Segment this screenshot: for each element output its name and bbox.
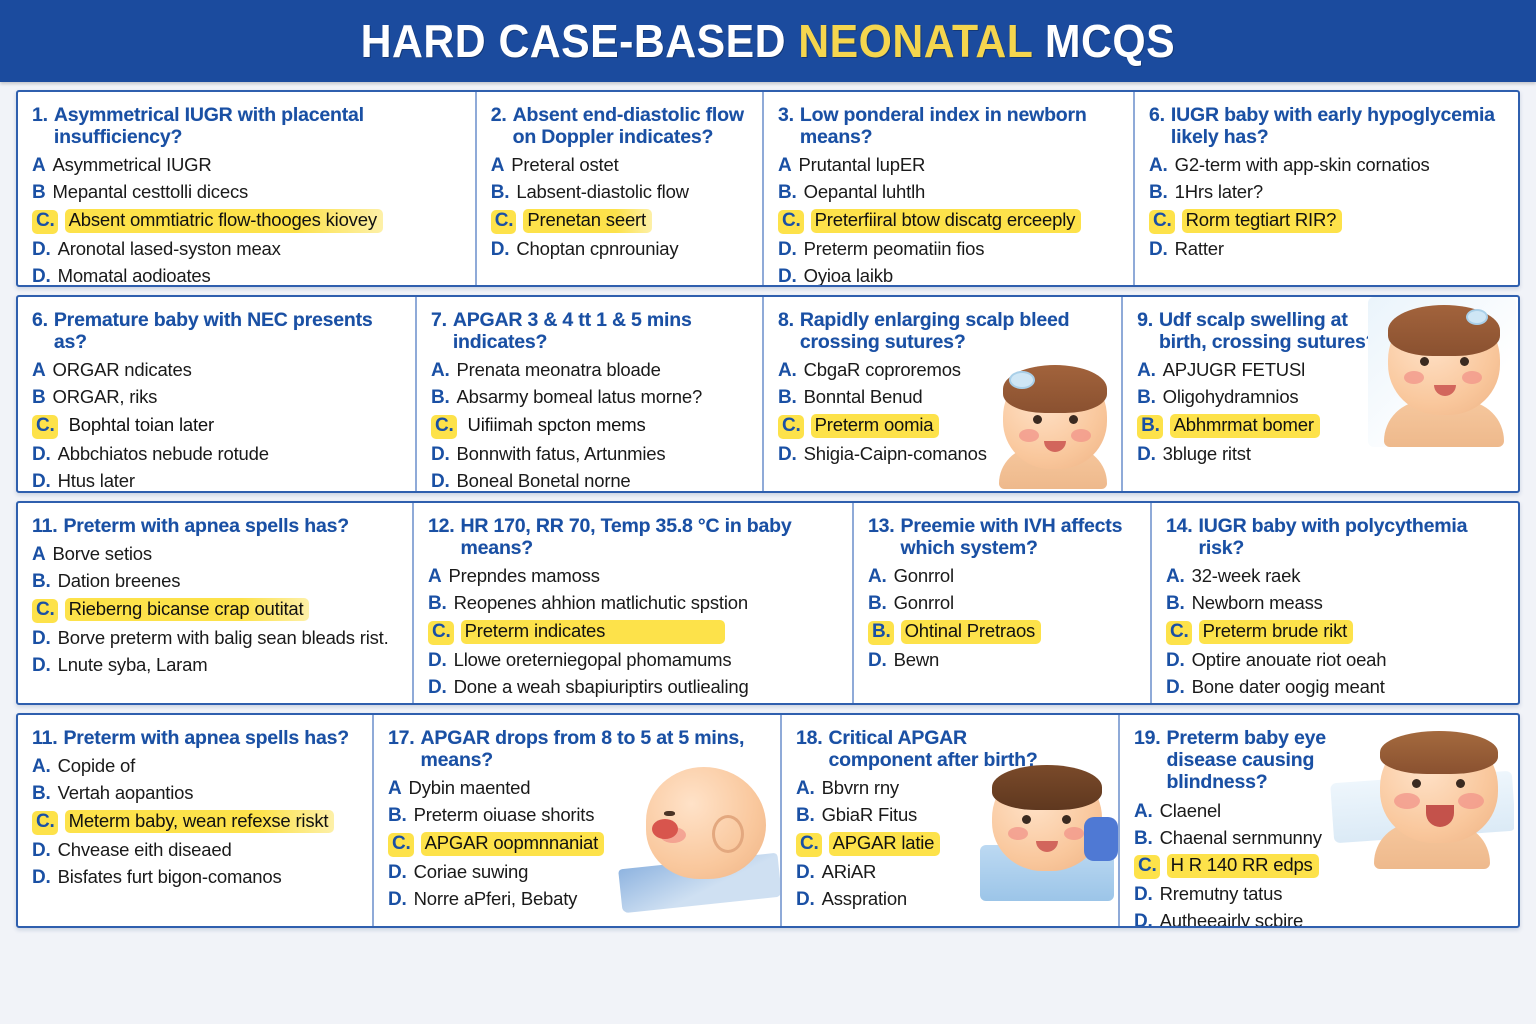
option-text: Optire anouate riot oeah (1192, 650, 1387, 670)
option-letter: A (491, 156, 505, 177)
question-text: Preterm with apnea spells has? (63, 727, 358, 749)
option-item[interactable]: D.Momatal aodioates (32, 266, 461, 285)
title-part-2: MCQs (1033, 15, 1176, 67)
option-text: Preterm indicates (461, 620, 726, 643)
option-item-highlighted[interactable]: C.Preterm oomia (778, 414, 1107, 439)
option-item[interactable]: D.3bluge ritst (1137, 444, 1504, 466)
option-letter: C. (32, 811, 58, 835)
question-heading: 1. Asymmetrical IUGR with placental insu… (32, 104, 461, 148)
option-item[interactable]: APreteral ostet (491, 155, 748, 177)
option-letter: A (388, 779, 402, 800)
title-part-1: Hard Case-Based (361, 15, 799, 67)
option-letter: B. (778, 183, 797, 204)
option-letter: D. (778, 267, 797, 285)
option-item[interactable]: ABorve setios (32, 544, 398, 566)
option-item[interactable]: D.Lnute syba, Laram (32, 655, 398, 677)
option-item[interactable]: D.Bone dater oogig meant (1166, 677, 1504, 699)
option-text: GbiaR Fitus (822, 805, 917, 825)
option-letter: D. (428, 651, 447, 672)
question-text: Preterm baby eye disease causing blindne… (1167, 727, 1384, 794)
option-text: Bonnwith fatus, Artunmies (457, 444, 666, 464)
option-letter: B. (32, 572, 51, 593)
option-text: Bisfates furt bigon-comanos (58, 867, 282, 887)
option-text: Bone dater oogig meant (1192, 677, 1385, 697)
option-text: Preterm brude rikt (1199, 620, 1353, 643)
option-item[interactable]: D.Abbchiatos nebude rotude (32, 444, 401, 466)
question-card[interactable]: 19. Preterm baby eye disease causing bli… (1120, 715, 1514, 926)
options-list: ADybin maented B.Preterm oiuase shorits … (388, 778, 766, 910)
option-letter: C. (428, 621, 454, 645)
option-letter: B. (1137, 415, 1163, 439)
option-letter: A (32, 361, 46, 382)
option-letter: D. (778, 240, 797, 261)
option-item[interactable]: A.Prenata meonatra bloade (431, 360, 748, 382)
option-item[interactable]: B.Reopenes ahhion matlichutic spstion (428, 593, 838, 615)
option-letter: D. (1134, 885, 1153, 906)
option-item[interactable]: D.Borve preterm with balig sean bleads r… (32, 628, 398, 650)
question-row: 11. Preterm with apnea spells has? A.Cop… (16, 713, 1520, 928)
option-text: ARiAR (822, 862, 877, 882)
option-text: Bonntal Benud (804, 387, 923, 407)
option-letter: C. (32, 210, 58, 234)
option-letter: C. (388, 833, 414, 857)
option-text: Norre aPferi, Bebaty (414, 889, 578, 909)
option-letter: B. (1149, 183, 1168, 204)
question-number: 14. (1166, 515, 1193, 537)
option-letter: A (32, 156, 46, 177)
options-list: A.Gonrrol B.Gonrrol B.Ohtinal Pretraos D… (868, 566, 1136, 672)
option-item[interactable]: D.Aronotal lased-syston meax (32, 239, 461, 261)
question-text: Asymmetrical IUGR with placental insuffi… (54, 104, 461, 148)
option-item[interactable]: B.Preterm oiuase shorits (388, 805, 766, 827)
question-text: APGAR 3 & 4 tt 1 & 5 mins indicates? (453, 309, 748, 353)
option-letter: D. (1166, 651, 1185, 672)
option-item-highlighted[interactable]: C.Absent ommtiatric flow-thooges kiovey (32, 209, 461, 234)
question-text: Low ponderal index in newborn means? (800, 104, 1119, 148)
option-item[interactable]: D.Asspration (796, 889, 1104, 911)
option-item[interactable]: D.Autheeairly scbire (1134, 911, 1500, 926)
option-letter: D. (388, 863, 407, 884)
option-item[interactable]: AAsymmetrical IUGR (32, 155, 461, 177)
option-text: Preteral ostet (511, 155, 618, 175)
option-item[interactable]: D.ARiAR (796, 862, 1104, 884)
question-row: 1. Asymmetrical IUGR with placental insu… (16, 90, 1520, 287)
question-heading: 9. Udf scalp swelling at birth, crossing… (1137, 309, 1387, 353)
option-text: Absent ommtiatric flow-thooges kiovey (65, 209, 383, 232)
option-item[interactable]: A.Claenel (1134, 801, 1500, 823)
option-item[interactable]: B.Chaenal sernmunny (1134, 828, 1500, 850)
question-heading: 7. APGAR 3 & 4 tt 1 & 5 mins indicates? (431, 309, 748, 353)
option-item-highlighted[interactable]: C.Preterm indicates (428, 620, 838, 645)
option-item-highlighted[interactable]: C.Bophtal toian later (32, 414, 401, 439)
question-heading: 3. Low ponderal index in newborn means? (778, 104, 1119, 148)
question-heading: 13. Preemie with IVH affects which syste… (868, 515, 1136, 559)
option-text: Borve setios (53, 544, 152, 564)
question-number: 11. (32, 515, 57, 537)
option-text: Dation breenes (58, 571, 181, 591)
question-number: 11. (32, 727, 57, 749)
question-heading: 11. Preterm with apnea spells has? (32, 515, 398, 537)
option-item[interactable]: D.Preterm peomatiin fios (778, 239, 1119, 261)
option-text: Dybin maented (409, 778, 531, 798)
option-item[interactable]: B.Oligohydramnios (1137, 387, 1504, 409)
option-text: Gonrrol (894, 593, 954, 613)
option-text: Rieberng bicanse crap outitat (65, 598, 310, 621)
option-letter: D. (491, 240, 510, 261)
option-text: Prepndes mamoss (449, 566, 600, 586)
option-item[interactable]: A.CbgaR coproremos (778, 360, 1107, 382)
option-text: Abhmrmat bomer (1170, 414, 1320, 437)
option-text: APGAR latie (829, 832, 941, 855)
question-heading: 6. Premature baby with NEC presents as? (32, 309, 401, 353)
option-letter: D. (388, 890, 407, 911)
option-text: 1Hrs later? (1175, 182, 1263, 202)
option-item[interactable]: D.Done a weah sbapiuriptirs outliealing (428, 677, 838, 699)
option-item[interactable]: D.Llowe oreterniegopal phomamums (428, 650, 838, 672)
option-text: Rorm tegtiart RIR? (1182, 209, 1343, 232)
option-text: Newborn meass (1192, 593, 1323, 613)
option-item[interactable]: APrepndes mamoss (428, 566, 838, 588)
option-text: Asspration (822, 889, 907, 909)
options-list: APrutantal lupER B.Oepantal luhtlh C.Pre… (778, 155, 1119, 285)
question-number: 17. (388, 727, 415, 749)
option-letter: A. (796, 779, 815, 800)
question-card[interactable]: 9. Udf scalp swelling at birth, crossing… (1123, 297, 1518, 491)
option-letter: D. (778, 445, 797, 466)
question-heading: 6. IUGR baby with early hypoglycemia lik… (1149, 104, 1504, 148)
question-number: 9. (1137, 309, 1153, 331)
option-letter: C. (778, 415, 804, 439)
option-text: Preterfiiral btow discatg erceeply (811, 209, 1082, 232)
option-item[interactable]: APrutantal lupER (778, 155, 1119, 177)
option-item[interactable]: B.Absarmy bomeal latus morne? (431, 387, 748, 409)
option-text: APJUGR FETUSl (1163, 360, 1305, 380)
question-number: 2. (491, 104, 507, 126)
option-text: ORGAR, riks (53, 387, 158, 407)
option-item[interactable]: A.Bbvrn rny (796, 778, 1104, 800)
option-text: Borve preterm with balig sean bleads ris… (58, 628, 389, 648)
option-letter: C. (1134, 855, 1160, 879)
question-card[interactable]: 17. APGAR drops from 8 to 5 at 5 mins, m… (374, 715, 782, 926)
option-item[interactable]: A.APJUGR FETUSl (1137, 360, 1504, 382)
option-item-highlighted[interactable]: C.Rieberng bicanse crap outitat (32, 598, 398, 623)
option-letter: D. (868, 651, 887, 672)
option-letter: B. (1166, 594, 1185, 615)
option-text: 32-week raek (1192, 566, 1301, 586)
options-list: A.Claenel B.Chaenal sernmunny C.H R 140 … (1134, 801, 1500, 926)
option-letter: D. (32, 472, 51, 491)
option-letter: D. (431, 445, 450, 466)
question-card[interactable]: 8. Rapidly enlarging scalp bleed crossin… (764, 297, 1123, 491)
option-letter: C. (1149, 210, 1175, 234)
option-item[interactable]: D.Choptan cpnrouniay (491, 239, 748, 261)
option-text: Lnute syba, Laram (58, 655, 208, 675)
option-text: Oepantal luhtlh (804, 182, 925, 202)
question-heading: 19. Preterm baby eye disease causing bli… (1134, 727, 1384, 794)
question-row: 6. Premature baby with NEC presents as? … (16, 295, 1520, 493)
question-card[interactable]: 7. APGAR 3 & 4 tt 1 & 5 mins indicates? … (417, 297, 764, 491)
option-item[interactable]: A.G2-term with app-skin cornatios (1149, 155, 1504, 177)
question-card[interactable]: 13. Preemie with IVH affects which syste… (854, 503, 1152, 703)
page-title: Hard Case-Based Neonatal MCQs (361, 14, 1175, 68)
question-card[interactable]: 11. Preterm with apnea spells has? A.Cop… (18, 715, 374, 926)
option-letter: B. (491, 183, 510, 204)
option-text: Oyioa laikb (804, 266, 893, 285)
poster-header: Hard Case-Based Neonatal MCQs (0, 0, 1536, 82)
option-letter: B. (388, 806, 407, 827)
options-list: A.Copide of B.Vertah aopantios C.Meterm … (32, 756, 358, 888)
option-text: Asymmetrical IUGR (53, 155, 212, 175)
option-text: H R 140 RR edps (1167, 854, 1319, 877)
option-item[interactable]: D.Chvease eith diseaed (32, 840, 358, 862)
question-number: 19. (1134, 727, 1161, 749)
options-list: APrepndes mamoss B.Reopenes ahhion matli… (428, 566, 838, 698)
option-item[interactable]: B.Dation breenes (32, 571, 398, 593)
option-letter: A. (431, 361, 450, 382)
option-text: Momatal aodioates (58, 266, 211, 285)
option-letter: A. (1134, 802, 1153, 823)
question-card[interactable]: 11. Preterm with apnea spells has? ABorv… (18, 503, 414, 703)
option-letter: C. (796, 833, 822, 857)
option-text: Autheeairly scbire (1160, 911, 1303, 926)
option-letter: D. (796, 863, 815, 884)
option-item[interactable]: B.Newborn meass (1166, 593, 1504, 615)
option-text: Shigia-Caipn-comanos (804, 444, 987, 464)
options-list: A.Bbvrn rny B.GbiaR Fitus C.APGAR latie … (796, 778, 1104, 910)
option-text: Aronotal lased-syston meax (58, 239, 281, 259)
question-heading: 12. HR 170, RR 70, Temp 35.8 °C in baby … (428, 515, 838, 559)
options-list: A.32-week raek B.Newborn meass C.Preterm… (1166, 566, 1504, 698)
option-item-highlighted[interactable]: C.H R 140 RR edps (1134, 854, 1500, 879)
option-letter: C. (778, 210, 804, 234)
option-letter: D. (1166, 678, 1185, 699)
option-item[interactable]: D.Coriae suwing (388, 862, 766, 884)
option-item[interactable]: B.Labsent-diastolic flow (491, 182, 748, 204)
option-text: Done a weah sbapiuriptirs outliealing (454, 677, 749, 697)
option-text: Prutantal lupER (799, 155, 926, 175)
question-text: Preemie with IVH affects which system? (901, 515, 1136, 559)
option-text: Labsent-diastolic flow (516, 182, 688, 202)
question-board: 1. Asymmetrical IUGR with placental insu… (0, 82, 1536, 962)
option-text: Copide of (58, 756, 135, 776)
option-item[interactable]: D.Rremutny tatus (1134, 884, 1500, 906)
option-letter: B. (1137, 388, 1156, 409)
option-text: Oligohydramnios (1163, 387, 1299, 407)
option-letter: B. (1134, 829, 1153, 850)
option-letter: C. (32, 599, 58, 623)
question-number: 6. (32, 309, 48, 331)
option-letter: A. (1166, 567, 1185, 588)
option-item[interactable]: B.Bonntal Benud (778, 387, 1107, 409)
option-letter: B. (32, 784, 51, 805)
option-text: Reopenes ahhion matlichutic spstion (454, 593, 748, 613)
option-letter: B (32, 388, 46, 409)
option-item[interactable]: BORGAR, riks (32, 387, 401, 409)
option-text: Ratter (1175, 239, 1224, 259)
question-heading: 18. Critical APGAR component after birth… (796, 727, 1038, 771)
question-number: 18. (796, 727, 823, 749)
option-letter: C. (1166, 621, 1192, 645)
option-item[interactable]: D.Optire anouate riot oeah (1166, 650, 1504, 672)
question-text: Critical APGAR component after birth? (829, 727, 1038, 771)
question-heading: 14. IUGR baby with polycythemia risk? (1166, 515, 1504, 559)
question-text: APGAR drops from 8 to 5 at 5 mins, means… (421, 727, 766, 771)
option-letter: B. (868, 621, 894, 645)
option-text: ORGAR ndicates (53, 360, 192, 380)
option-text: Uifiimah spcton mems (464, 414, 652, 437)
option-letter: A. (1149, 156, 1168, 177)
option-text: Rremutny tatus (1160, 884, 1283, 904)
option-item[interactable]: A.32-week raek (1166, 566, 1504, 588)
option-text: Claenel (1160, 801, 1221, 821)
option-text: G2-term with app-skin cornatios (1175, 155, 1430, 175)
option-letter: D. (428, 678, 447, 699)
question-heading: 2. Absent end-diastolic flow on Doppler … (491, 104, 748, 148)
option-letter: A. (868, 567, 887, 588)
question-card[interactable]: 18. Critical APGAR component after birth… (782, 715, 1120, 926)
option-item[interactable]: D.Oyioa laikb (778, 266, 1119, 285)
option-item-highlighted[interactable]: C.Rorm tegtiart RIR? (1149, 209, 1504, 234)
option-text: Coriae suwing (414, 862, 529, 882)
option-text: Prenata meonatra bloade (457, 360, 661, 380)
option-text: APGAR oopmnnaniat (421, 832, 604, 855)
option-text: Preterm oomia (811, 414, 940, 437)
option-item[interactable]: ADybin maented (388, 778, 766, 800)
question-number: 3. (778, 104, 794, 126)
option-item[interactable]: A.Copide of (32, 756, 358, 778)
option-item-highlighted[interactable]: B.Ohtinal Pretraos (868, 620, 1136, 645)
option-text: Gonrrol (894, 566, 954, 586)
option-item[interactable]: D.Bonnwith fatus, Artunmies (431, 444, 748, 466)
option-text: Bewn (894, 650, 939, 670)
question-number: 8. (778, 309, 794, 331)
option-text: Chaenal sernmunny (1160, 828, 1322, 848)
options-list: ABorve setios B.Dation breenes C.Riebern… (32, 544, 398, 676)
options-list: A.APJUGR FETUSl B.Oligohydramnios B.Abhm… (1137, 360, 1504, 466)
question-number: 1. (32, 104, 48, 126)
option-item[interactable]: B.1Hrs later? (1149, 182, 1504, 204)
question-card[interactable]: 3. Low ponderal index in newborn means? … (764, 92, 1135, 285)
option-letter: A (778, 156, 792, 177)
option-item[interactable]: B.GbiaR Fitus (796, 805, 1104, 827)
question-card[interactable]: 6. Premature baby with NEC presents as? … (18, 297, 417, 491)
option-text: Ohtinal Pretraos (901, 620, 1041, 643)
option-letter: D. (32, 656, 51, 677)
option-letter: D. (32, 267, 51, 285)
question-text: HR 170, RR 70, Temp 35.8 °C in baby mean… (461, 515, 838, 559)
question-text: IUGR baby with polycythemia risk? (1199, 515, 1504, 559)
question-text: Udf scalp swelling at birth, crossing su… (1159, 309, 1387, 353)
options-list: APreteral ostet B.Labsent-diastolic flow… (491, 155, 748, 261)
option-item[interactable]: A.Gonrrol (868, 566, 1136, 588)
option-text: Boneal Bonetal norne (457, 471, 631, 491)
option-item-highlighted[interactable]: B.Abhmrmat bomer (1137, 414, 1504, 439)
options-list: A.Prenata meonatra bloade B.Absarmy bome… (431, 360, 748, 491)
option-text: Abbchiatos nebude rotude (58, 444, 269, 464)
option-item[interactable]: D.Boneal Bonetal norne (431, 471, 748, 491)
question-row: 11. Preterm with apnea spells has? ABorv… (16, 501, 1520, 705)
option-letter: A. (1137, 361, 1156, 382)
question-text: Rapidly enlarging scalp bleed crossing s… (800, 309, 1107, 353)
option-letter: D. (431, 472, 450, 491)
option-letter: B. (431, 388, 450, 409)
option-item[interactable]: B.Gonrrol (868, 593, 1136, 615)
option-item[interactable]: D.Htus later (32, 471, 401, 491)
question-card[interactable]: 2. Absent end-diastolic flow on Doppler … (477, 92, 764, 285)
option-letter: D. (1149, 240, 1168, 261)
question-card[interactable]: 1. Asymmetrical IUGR with placental insu… (18, 92, 477, 285)
option-text: Preterm peomatiin fios (804, 239, 985, 259)
question-heading: 17. APGAR drops from 8 to 5 at 5 mins, m… (388, 727, 766, 771)
option-text: Bophtal toian later (65, 414, 220, 437)
option-text: Llowe oreterniegopal phomamums (454, 650, 732, 670)
option-item-highlighted[interactable]: C.Meterm baby, wean refexse riskt (32, 810, 358, 835)
option-letter: D. (796, 890, 815, 911)
option-letter: B. (428, 594, 447, 615)
option-letter: B. (778, 388, 797, 409)
option-text: Mepantal cesttolli dicecs (53, 182, 249, 202)
option-letter: A. (32, 757, 51, 778)
options-list: AAsymmetrical IUGR BMepantal cesttolli d… (32, 155, 461, 285)
option-item[interactable]: AORGAR ndicates (32, 360, 401, 382)
poster-page: Hard Case-Based Neonatal MCQs 1. Asymmet… (0, 0, 1536, 1024)
option-letter: D. (32, 240, 51, 261)
option-text: Prenetan seert (523, 209, 652, 232)
option-item[interactable]: D.Ratter (1149, 239, 1504, 261)
question-card[interactable]: 14. IUGR baby with polycythemia risk? A.… (1152, 503, 1518, 703)
option-letter: A (32, 545, 46, 566)
option-letter: C. (32, 415, 58, 439)
question-text: Preterm with apnea spells has? (63, 515, 398, 537)
option-item[interactable]: B.Oepantal luhtlh (778, 182, 1119, 204)
option-item[interactable]: D.Norre aPferi, Bebaty (388, 889, 766, 911)
option-item-highlighted[interactable]: C.Preterm brude rikt (1166, 620, 1504, 645)
question-card[interactable]: 6. IUGR baby with early hypoglycemia lik… (1135, 92, 1518, 285)
option-text: Bbvrn rny (822, 778, 899, 798)
option-text: CbgaR coproremos (804, 360, 961, 380)
question-heading: 11. Preterm with apnea spells has? (32, 727, 358, 749)
question-number: 6. (1149, 104, 1165, 126)
option-text: Vertah aopantios (58, 783, 194, 803)
question-text: Absent end-diastolic flow on Doppler ind… (513, 104, 748, 148)
option-item[interactable]: D.Bewn (868, 650, 1136, 672)
question-number: 7. (431, 309, 447, 331)
option-letter: D. (32, 841, 51, 862)
question-number: 13. (868, 515, 895, 537)
option-item[interactable]: BMepantal cesttolli dicecs (32, 182, 461, 204)
option-item[interactable]: D.Bisfates furt bigon-comanos (32, 867, 358, 889)
options-list: A.G2-term with app-skin cornatios B.1Hrs… (1149, 155, 1504, 261)
option-item-highlighted[interactable]: C.Prenetan seert (491, 209, 748, 234)
question-heading: 8. Rapidly enlarging scalp bleed crossin… (778, 309, 1107, 353)
option-letter: D. (1134, 912, 1153, 926)
option-letter: C. (431, 415, 457, 439)
option-item-highlighted[interactable]: C.Preterfiiral btow discatg erceeply (778, 209, 1119, 234)
option-letter: A (428, 567, 442, 588)
option-item-highlighted[interactable]: C.APGAR latie (796, 832, 1104, 857)
option-item[interactable]: D.Shigia-Caipn-comanos (778, 444, 1107, 466)
option-text: Choptan cpnrouniay (516, 239, 678, 259)
option-letter: B (32, 183, 46, 204)
option-text: Htus later (58, 471, 135, 491)
option-item-highlighted[interactable]: C.Uifiimah spcton mems (431, 414, 748, 439)
question-card[interactable]: 12. HR 170, RR 70, Temp 35.8 °C in baby … (414, 503, 854, 703)
option-text: Absarmy bomeal latus morne? (457, 387, 703, 407)
option-item[interactable]: B.Vertah aopantios (32, 783, 358, 805)
option-item-highlighted[interactable]: C.APGAR oopmnnaniat (388, 832, 766, 857)
question-text: Premature baby with NEC presents as? (54, 309, 401, 353)
option-letter: B. (868, 594, 887, 615)
